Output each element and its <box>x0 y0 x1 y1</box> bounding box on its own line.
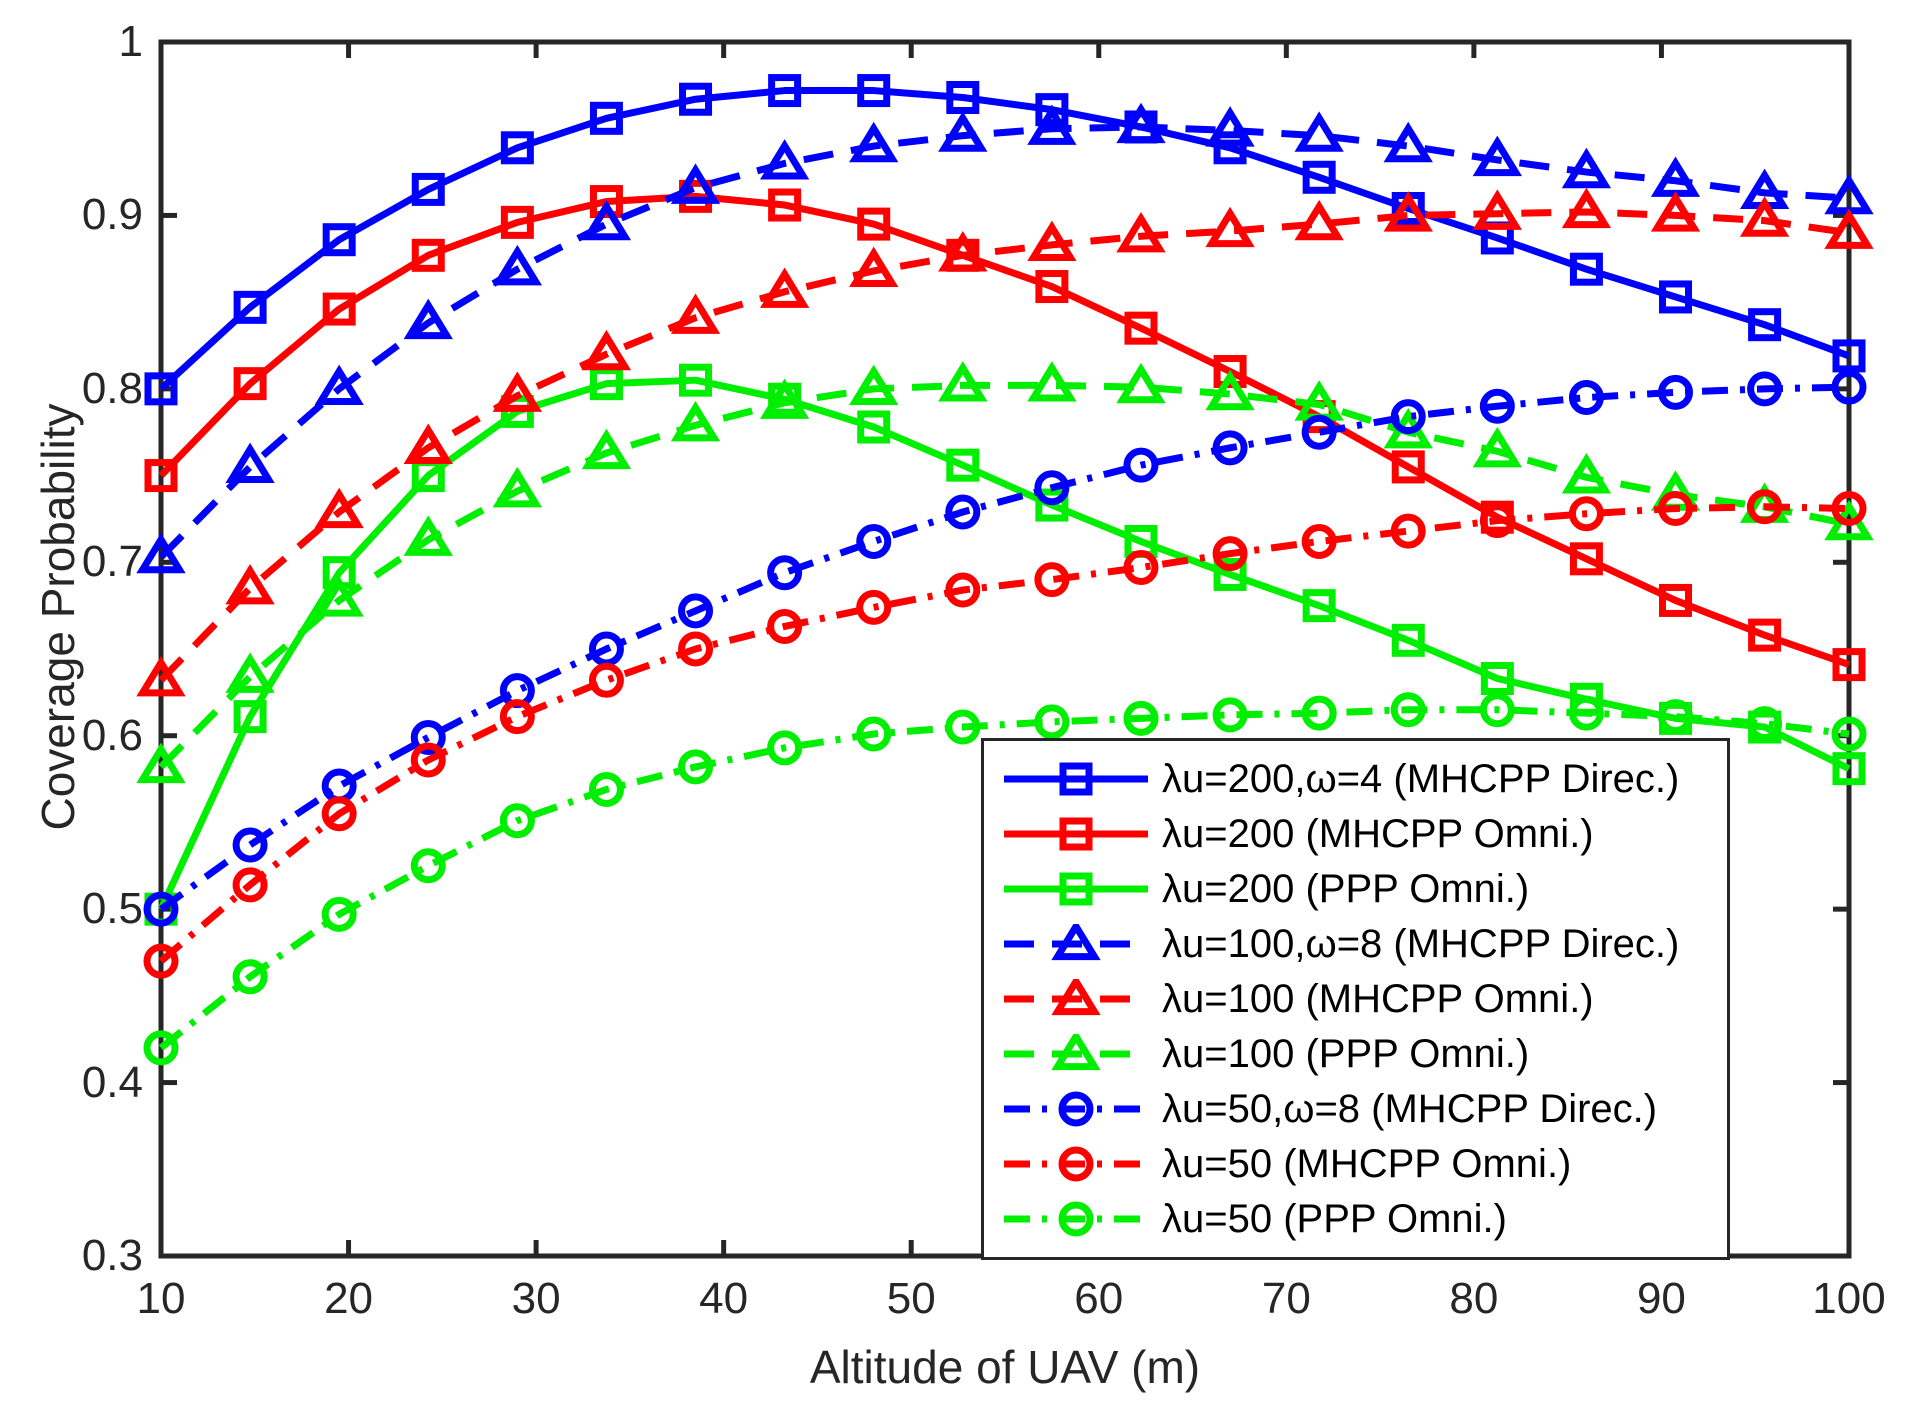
legend-item[interactable]: λu=100 (MHCPP Omni.) <box>984 971 1727 1026</box>
x-tick-label: 40 <box>699 1274 748 1324</box>
legend-item[interactable]: λu=50 (MHCPP Omni.) <box>984 1136 1727 1191</box>
y-tick-label: 0.9 <box>1 190 143 240</box>
legend-label: λu=200,ω=4 (MHCPP Direc.) <box>1162 759 1679 799</box>
marker-circle <box>414 852 442 880</box>
marker-triangle <box>1212 113 1249 143</box>
x-tick-label: 10 <box>137 1274 186 1324</box>
legend-item[interactable]: λu=50,ω=8 (MHCPP Direc.) <box>984 1081 1727 1136</box>
y-tick-label: 1 <box>1 17 143 67</box>
legend-line-sample <box>1000 814 1152 854</box>
series-lu200_w4_mhcpp_direc <box>148 78 1862 402</box>
legend-swatch <box>1000 1144 1152 1184</box>
marker-triangle <box>1123 370 1160 400</box>
legend-label: λu=100 (PPP Omni.) <box>1162 1034 1529 1074</box>
legend-swatch <box>1000 869 1152 909</box>
legend-swatch <box>1000 1089 1152 1129</box>
legend-line-sample <box>1000 924 1152 964</box>
legend-item[interactable]: λu=100,ω=8 (MHCPP Direc.) <box>984 916 1727 971</box>
x-tick-label: 50 <box>887 1274 936 1324</box>
marker-triangle <box>1301 207 1338 237</box>
legend-line-sample <box>1000 1034 1152 1074</box>
legend-line-sample <box>1000 1144 1152 1184</box>
legend-item[interactable]: λu=50 (PPP Omni.) <box>984 1191 1727 1246</box>
legend-label: λu=100,ω=8 (MHCPP Direc.) <box>1162 924 1679 964</box>
y-tick-label: 0.3 <box>1 1231 143 1281</box>
x-tick-label: 90 <box>1637 1274 1686 1324</box>
x-tick-label: 60 <box>1074 1274 1123 1324</box>
y-tick-label: 0.4 <box>1 1058 143 1108</box>
marker-circle <box>860 527 888 555</box>
x-axis-label: Altitude of UAV (m) <box>161 1340 1849 1394</box>
legend-label: λu=50 (MHCPP Omni.) <box>1162 1144 1571 1184</box>
x-tick-label: 20 <box>324 1274 373 1324</box>
legend-line-sample <box>1000 1199 1152 1239</box>
legend-swatch <box>1000 979 1152 1019</box>
legend-label: λu=200 (MHCPP Omni.) <box>1162 814 1594 854</box>
y-axis-label: Coverage Probability <box>31 287 85 947</box>
legend-label: λu=200 (PPP Omni.) <box>1162 869 1529 909</box>
marker-circle <box>325 772 353 800</box>
legend-item[interactable]: λu=100 (PPP Omni.) <box>984 1026 1727 1081</box>
legend-label: λu=50 (PPP Omni.) <box>1162 1199 1507 1239</box>
marker-triangle <box>1033 368 1070 398</box>
legend-line-sample <box>1000 1089 1152 1129</box>
legend-swatch <box>1000 1034 1152 1074</box>
legend-item[interactable]: λu=200 (MHCPP Omni.) <box>984 806 1727 861</box>
x-tick-label: 100 <box>1812 1274 1885 1324</box>
legend-line-sample <box>1000 979 1152 1019</box>
marker-triangle <box>1301 118 1338 148</box>
marker-triangle <box>1390 129 1427 159</box>
legend-swatch <box>1000 759 1152 799</box>
x-tick-label: 70 <box>1262 1274 1311 1324</box>
legend-line-sample <box>1000 869 1152 909</box>
figure-root: 1020304050607080901000.30.40.50.60.70.80… <box>0 0 1906 1428</box>
legend-item[interactable]: λu=200 (PPP Omni.) <box>984 861 1727 916</box>
legend-line-sample <box>1000 759 1152 799</box>
series-lu200_mhcpp_omni <box>148 183 1862 677</box>
marker-triangle <box>1212 213 1249 243</box>
x-tick-label: 30 <box>512 1274 561 1324</box>
legend-item[interactable]: λu=200,ω=4 (MHCPP Direc.) <box>984 751 1727 806</box>
legend-swatch <box>1000 924 1152 964</box>
marker-circle <box>236 831 264 859</box>
legend-swatch <box>1000 814 1152 854</box>
legend-label: λu=50,ω=8 (MHCPP Direc.) <box>1162 1089 1657 1129</box>
legend-swatch <box>1000 1199 1152 1239</box>
series-lu100_ppp_omni <box>143 368 1868 780</box>
x-tick-label: 80 <box>1449 1274 1498 1324</box>
marker-circle <box>592 666 620 694</box>
legend-label: λu=100 (MHCPP Omni.) <box>1162 979 1594 1019</box>
legend: λu=200,ω=4 (MHCPP Direc.)λu=200 (MHCPP O… <box>981 738 1730 1260</box>
